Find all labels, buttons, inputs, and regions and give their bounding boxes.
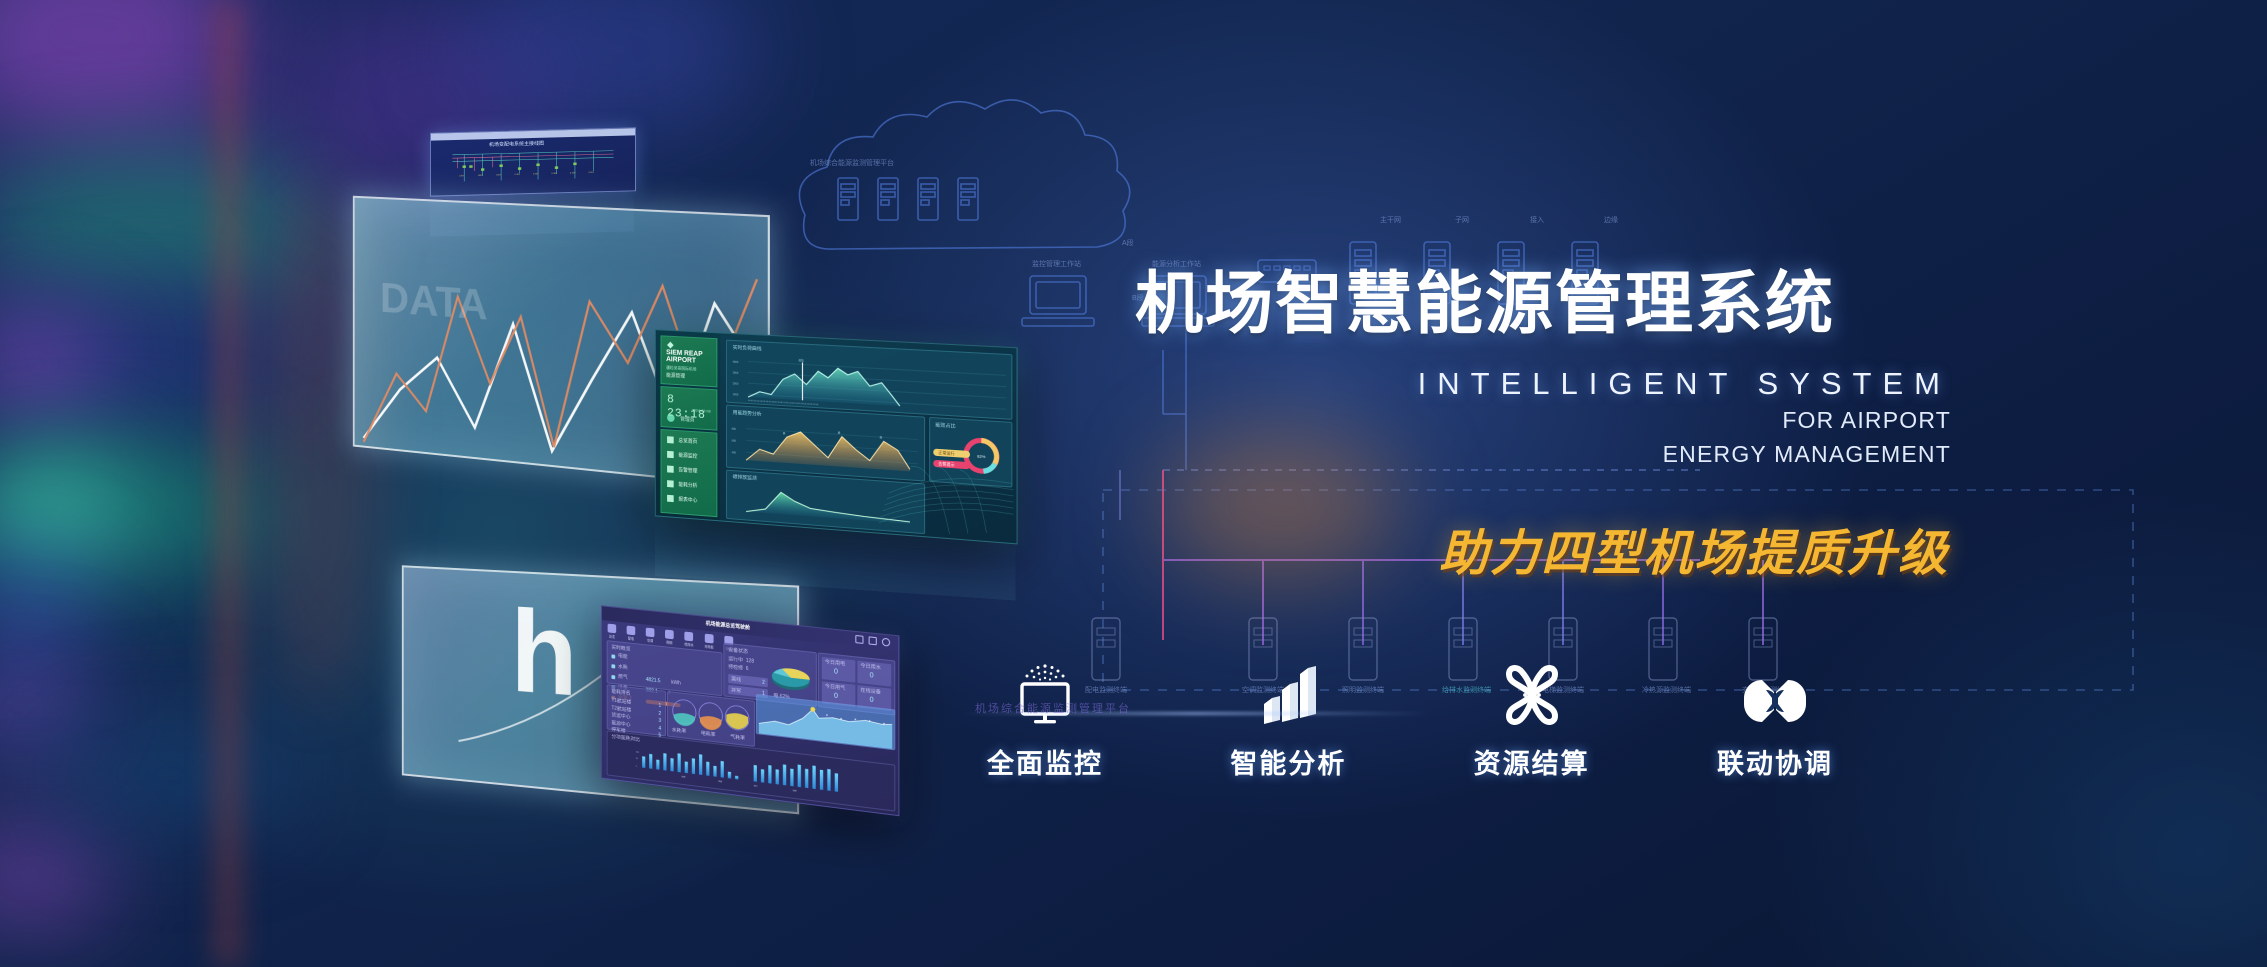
teal-sidebar[interactable]: SIEM REAP AIRPORT 暹粒吴哥国际机场 能源管理 8 23:18 … (656, 330, 720, 520)
svg-text:边缘: 边缘 (1604, 215, 1618, 224)
feature-item-analysis[interactable]: 智能分析 (1203, 660, 1373, 781)
teal-menu-1[interactable]: 能源监控 (678, 452, 697, 460)
brand-diamond-icon (667, 342, 674, 349)
hero-banner: 机场综合能源监测管理平台 监控管理工作站 能源分析工作站 配电监测终端 空调监测… (0, 0, 2267, 967)
teal-menu-2[interactable]: 告警管理 (678, 466, 697, 474)
svg-text:10kV: 10kV (496, 174, 502, 176)
svg-text:A段: A段 (1122, 238, 1134, 247)
teal-menu-4[interactable]: 报表中心 (678, 496, 697, 504)
indigo-nav-5[interactable]: 充电桩 (704, 634, 713, 650)
row-icon-1 (611, 664, 615, 668)
monitor-signal-icon (1012, 660, 1078, 726)
tagline: 助力四型机场提质升级 (1135, 514, 1955, 585)
indigo-topbar-actions[interactable] (855, 635, 890, 647)
svg-text:4000: 4000 (733, 360, 739, 364)
bar-chart-icon (1258, 660, 1318, 726)
svg-text:照明: 照明 (682, 774, 686, 779)
indigo-nav-1[interactable]: 配电 (627, 626, 636, 642)
feature-label-coordination: 联动协调 (1717, 742, 1833, 781)
report-icon (667, 495, 674, 502)
svg-text:峰值: 峰值 (799, 358, 805, 362)
row-icon-2 (611, 675, 615, 679)
svg-text:50: 50 (636, 758, 638, 760)
indigo-card-1-title: 设备状态 (728, 647, 748, 657)
teal-menu[interactable]: 总览首页 能源监控 告警管理 能耗分析 报表中心 (661, 429, 718, 517)
svg-text:机场综合能源监测管理平台: 机场综合能源监测管理平台 (810, 158, 894, 167)
svg-text:0.4kV: 0.4kV (533, 173, 539, 175)
indigo-nav-2[interactable]: 空调 (646, 628, 655, 644)
svg-text:特种: 特种 (793, 788, 797, 793)
alert-icon (667, 466, 674, 473)
indigo-nav-4[interactable]: 给排水 (684, 632, 693, 648)
butterfly-grid-icon (1501, 660, 1563, 726)
nav-icon-0 (608, 624, 617, 634)
svg-text:800: 800 (732, 427, 737, 431)
avatar[interactable] (882, 638, 890, 647)
svg-text:0: 0 (636, 766, 637, 768)
fullscreen-icon[interactable] (869, 636, 877, 645)
feature-row: 全面监控 智能分析 (960, 660, 1860, 781)
teal-menu-3[interactable]: 能耗分析 (678, 481, 697, 489)
settings-icon[interactable] (855, 635, 863, 644)
feature-label-analysis: 智能分析 (1230, 742, 1346, 781)
svg-text:空调: 空调 (718, 779, 722, 784)
row-icon-0 (611, 654, 615, 658)
topology-caption: 机场综合能源监测管理平台 (975, 700, 1131, 716)
svg-text:82%: 82% (977, 453, 986, 459)
teal-user: 管理员 (680, 416, 694, 424)
svg-text:峰: 峰 (838, 430, 841, 434)
teal-brand-line2: AIRPORT (666, 356, 696, 364)
subtitle-line3: ENERGY MANAGEMENT (1135, 440, 1955, 470)
svg-text:接入: 接入 (1530, 215, 1544, 224)
svg-text:主干网: 主干网 (1380, 215, 1401, 224)
svg-text:600: 600 (732, 438, 737, 442)
feature-label-settlement: 资源结算 (1474, 742, 1590, 781)
indigo-card-3-title: 能耗排名 (611, 689, 630, 699)
svg-text:0.4kV: 0.4kV (551, 173, 557, 175)
nav-icon-4 (685, 632, 694, 642)
nav-icon-3 (665, 630, 674, 640)
svg-text:动力: 动力 (754, 783, 758, 788)
svg-text:0.4kV: 0.4kV (570, 172, 576, 174)
interlock-link-icon (1742, 660, 1808, 726)
teal-card-trend[interactable]: 用能趋势分析 800600400 峰峰峰 (726, 405, 925, 482)
subtitle-en: INTELLIGENT SYSTEM (1135, 366, 1955, 402)
gauge-label-1: 电耗率 (701, 730, 716, 739)
page-title: 机场智慧能源管理系统 (1135, 268, 1955, 340)
svg-text:0.4kV: 0.4kV (515, 174, 521, 176)
feature-item-coordination[interactable]: 联动协调 (1690, 660, 1860, 781)
teal-card-efficiency[interactable]: 能效占比 82% 正常运行 告警提示 (929, 417, 1012, 488)
indigo-nav-0[interactable]: 总览 (608, 624, 617, 640)
svg-text:0.4kV: 0.4kV (588, 172, 594, 174)
home-icon (667, 436, 674, 443)
feature-item-settlement[interactable]: 资源结算 (1447, 660, 1617, 781)
indigo-nav-3[interactable]: 照明 (665, 630, 674, 646)
grid-icon (667, 451, 674, 458)
svg-text:00:00 02:00 04:00 06:00 08: 00:00 02:00 04:00 06:00 08:00 10:00 12:0… (748, 400, 819, 406)
chart-icon (667, 480, 674, 487)
nav-icon-2 (646, 628, 655, 638)
svg-text:峰: 峰 (783, 431, 786, 435)
kpi-0: 今日用电 0 (822, 657, 855, 683)
svg-text:2000: 2000 (733, 381, 739, 385)
svg-text:400: 400 (732, 450, 737, 454)
svg-text:子网: 子网 (1455, 216, 1469, 224)
svg-text:1000: 1000 (733, 392, 739, 396)
teal-clock-card: 8 23:18 2024.03.08 管理员 (661, 386, 718, 431)
indigo-title: 机场能源总览驾驶舱 (706, 620, 750, 631)
indigo-card-ranking[interactable]: 能耗排名 T1航站楼1 T2航站楼2 货运中心3 能源中心4 停车楼5 (607, 684, 666, 736)
teal-brand-card: SIEM REAP AIRPORT 暹粒吴哥国际机场 能源管理 (661, 335, 718, 387)
gauge-label-2: 气耗率 (730, 734, 745, 743)
dashboard-teal[interactable]: SIEM REAP AIRPORT 暹粒吴哥国际机场 能源管理 8 23:18 … (655, 329, 1018, 544)
nav-icon-5 (705, 634, 714, 644)
subtitle-line2: FOR AIRPORT (1135, 406, 1955, 436)
feature-label-monitor: 全面监控 (987, 742, 1103, 781)
svg-text:10kV: 10kV (478, 175, 484, 177)
svg-text:100: 100 (636, 751, 639, 753)
hero-copy: 机场智慧能源管理系统 INTELLIGENT SYSTEM FOR AIRPOR… (1135, 268, 1955, 585)
gauge-label-0: 水耗率 (672, 727, 687, 736)
svg-text:3000: 3000 (733, 370, 739, 374)
feature-item-monitor[interactable]: 全面监控 (960, 660, 1130, 781)
scada-diagram-panel: 机场变配电系统主接线图 10kV10kV10kV 0.4kV0.4kV0.4kV (430, 127, 636, 196)
user-icon (667, 414, 675, 422)
svg-text:监控管理工作站: 监控管理工作站 (1032, 259, 1081, 268)
svg-text:10kV: 10kV (459, 175, 465, 177)
teal-menu-0[interactable]: 总览首页 (678, 437, 697, 445)
teal-brand-cn: 能源管理 (666, 372, 685, 380)
kpi-1: 今日用水 0 (857, 661, 891, 687)
nav-icon-1 (627, 626, 636, 636)
